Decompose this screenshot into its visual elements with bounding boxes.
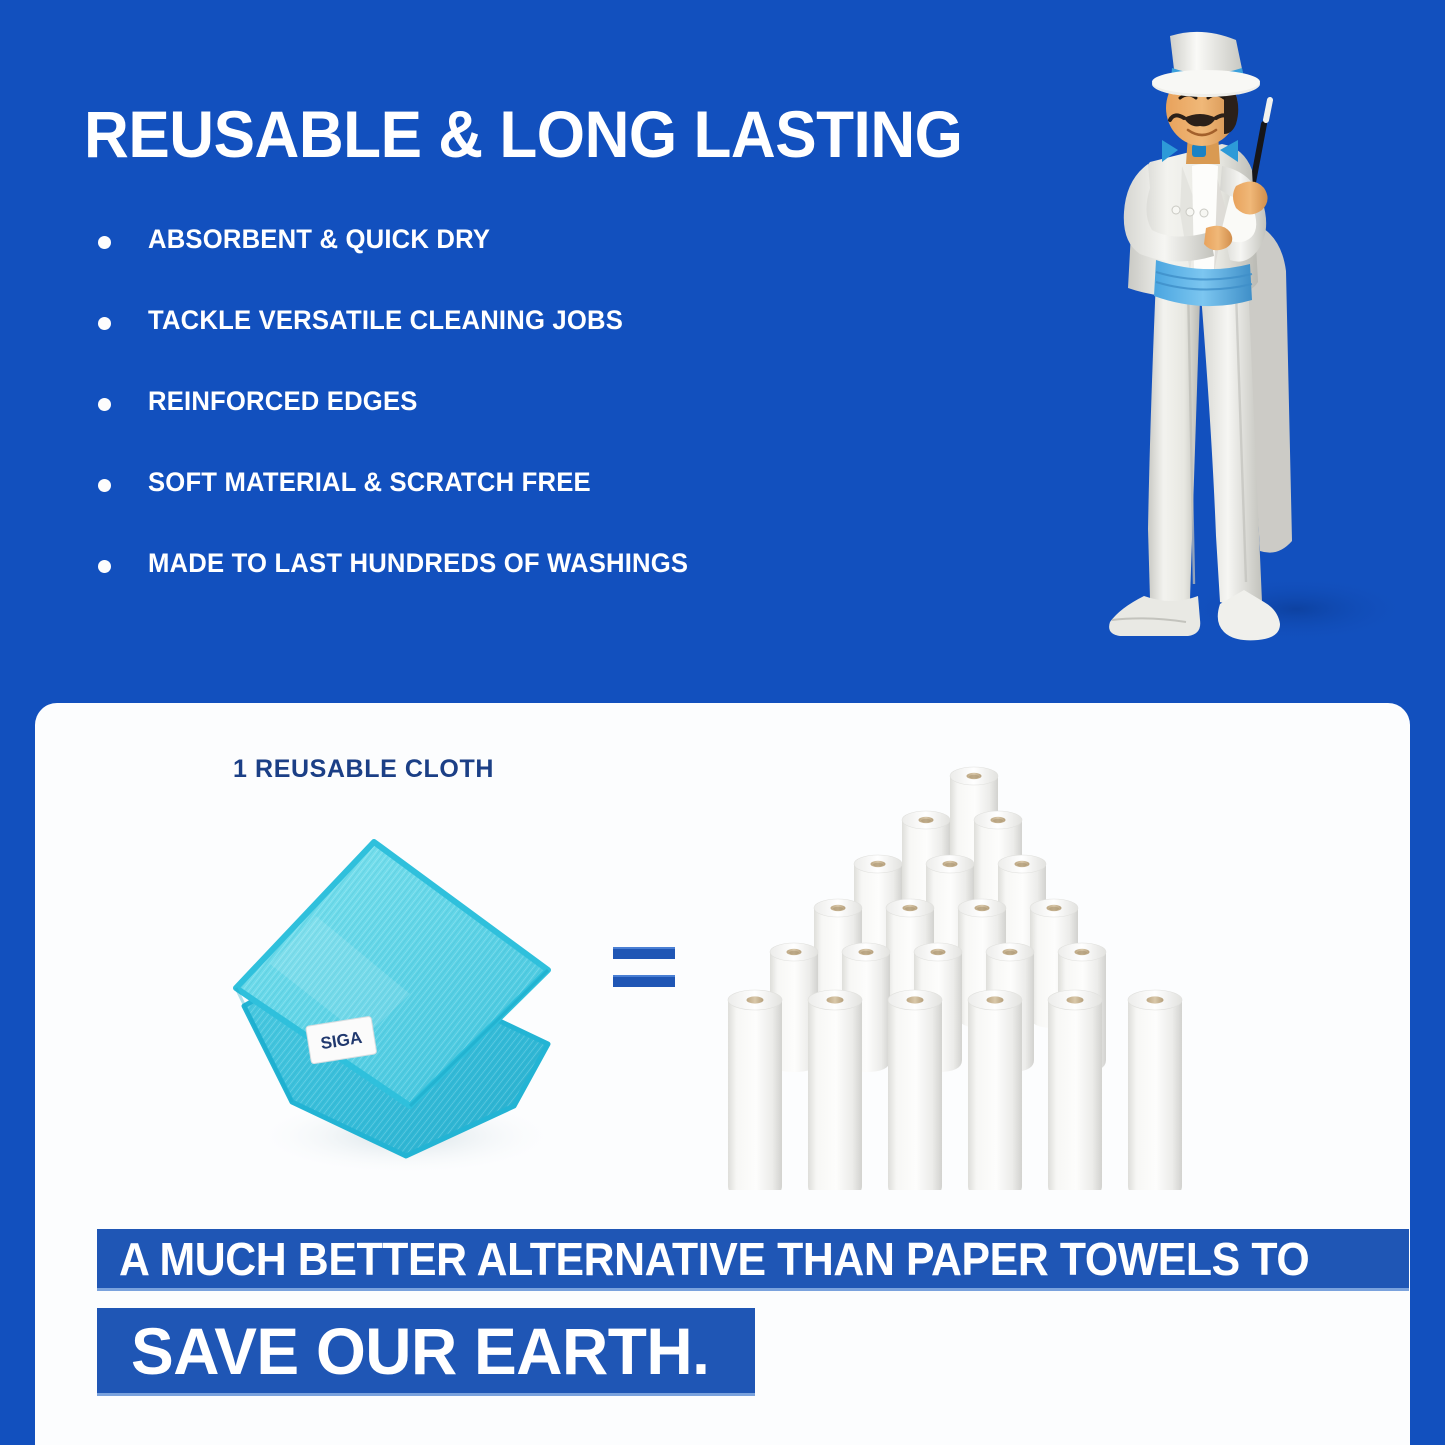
list-item-label: SOFT MATERIAL & SCRATCH FREE [148, 467, 591, 498]
microfiber-cloth-image: SIGA [196, 806, 596, 1186]
bullet-dot-icon [98, 236, 111, 249]
hero-section: REUSABLE & LONG LASTING ABSORBENT & QUIC… [0, 0, 1445, 703]
feature-bullet-list: ABSORBENT & QUICK DRY TACKLE VERSATILE C… [98, 224, 998, 629]
page-title: REUSABLE & LONG LASTING [84, 96, 962, 172]
mascot-figure-icon [1096, 14, 1416, 674]
banner-line-2-text: SAVE OUR EARTH. [131, 1313, 709, 1389]
list-item: MADE TO LAST HUNDREDS OF WASHINGS [98, 548, 998, 629]
banner-line-1: A MUCH BETTER ALTERNATIVE THAN PAPER TOW… [97, 1229, 1409, 1291]
paper-towel-pyramid-image [726, 758, 1222, 1190]
list-item: SOFT MATERIAL & SCRATCH FREE [98, 467, 998, 548]
list-item-label: ABSORBENT & QUICK DRY [148, 224, 490, 255]
list-item: ABSORBENT & QUICK DRY [98, 224, 998, 305]
bullet-dot-icon [98, 398, 111, 411]
bullet-dot-icon [98, 560, 111, 573]
list-item-label: TACKLE VERSATILE CLEANING JOBS [148, 305, 623, 336]
bullet-dot-icon [98, 479, 111, 492]
list-item: TACKLE VERSATILE CLEANING JOBS [98, 305, 998, 386]
banner-line-2: SAVE OUR EARTH. [97, 1308, 755, 1396]
list-item-label: REINFORCED EDGES [148, 386, 418, 417]
equals-bar-bottom [613, 975, 675, 987]
bullet-dot-icon [98, 317, 111, 330]
banner-line-1-text: A MUCH BETTER ALTERNATIVE THAN PAPER TOW… [119, 1232, 1309, 1286]
equals-sign-icon [613, 947, 675, 991]
cloth-label: 1 REUSABLE CLOTH [233, 755, 494, 784]
list-item-label: MADE TO LAST HUNDREDS OF WASHINGS [148, 548, 688, 579]
equals-bar-top [613, 947, 675, 959]
list-item: REINFORCED EDGES [98, 386, 998, 467]
